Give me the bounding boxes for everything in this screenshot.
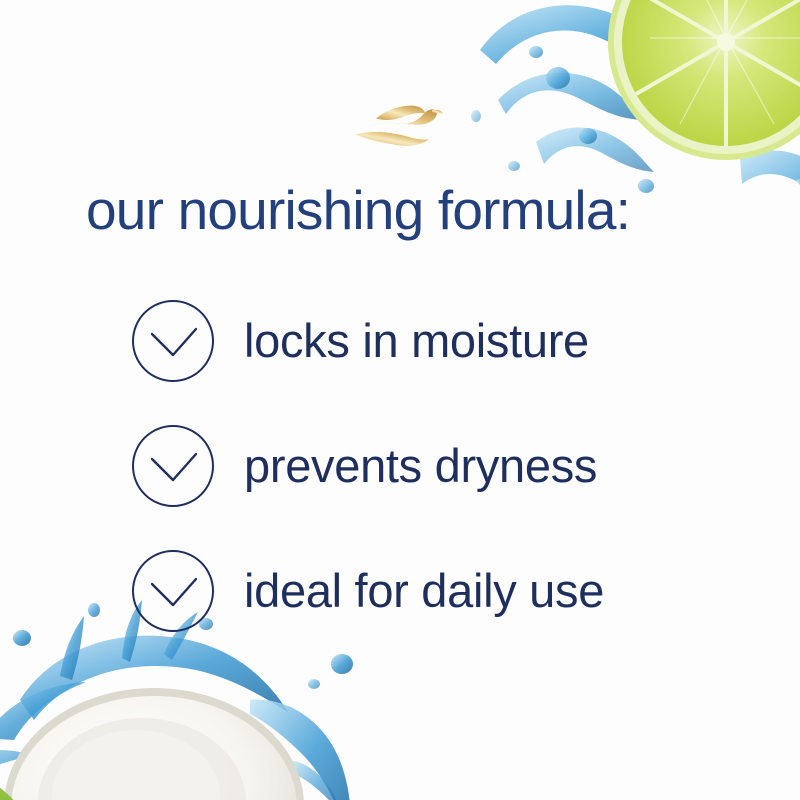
check-circle-icon <box>130 298 216 384</box>
check-circle-icon <box>130 423 216 509</box>
promo-canvas: our nourishing formula: locks in moistur… <box>0 0 800 800</box>
list-item: locks in moisture <box>130 296 750 386</box>
list-item: prevents dryness <box>130 421 750 511</box>
check-circle-icon <box>130 548 216 634</box>
benefits-list: locks in moisture prevents dryness ideal… <box>130 296 750 636</box>
list-item-label: locks in moisture <box>244 315 589 367</box>
list-item: ideal for daily use <box>130 546 750 636</box>
list-item-label: prevents dryness <box>244 440 597 492</box>
lime-wedge-shape <box>0 766 46 800</box>
list-item-label: ideal for daily use <box>244 565 604 617</box>
lime-slice-shape <box>608 0 800 160</box>
dove-bird-logo-icon <box>352 96 448 152</box>
page-title: our nourishing formula: <box>86 178 726 242</box>
coconut-half-shape <box>4 688 304 800</box>
lime-wedge-shape <box>590 0 726 7</box>
